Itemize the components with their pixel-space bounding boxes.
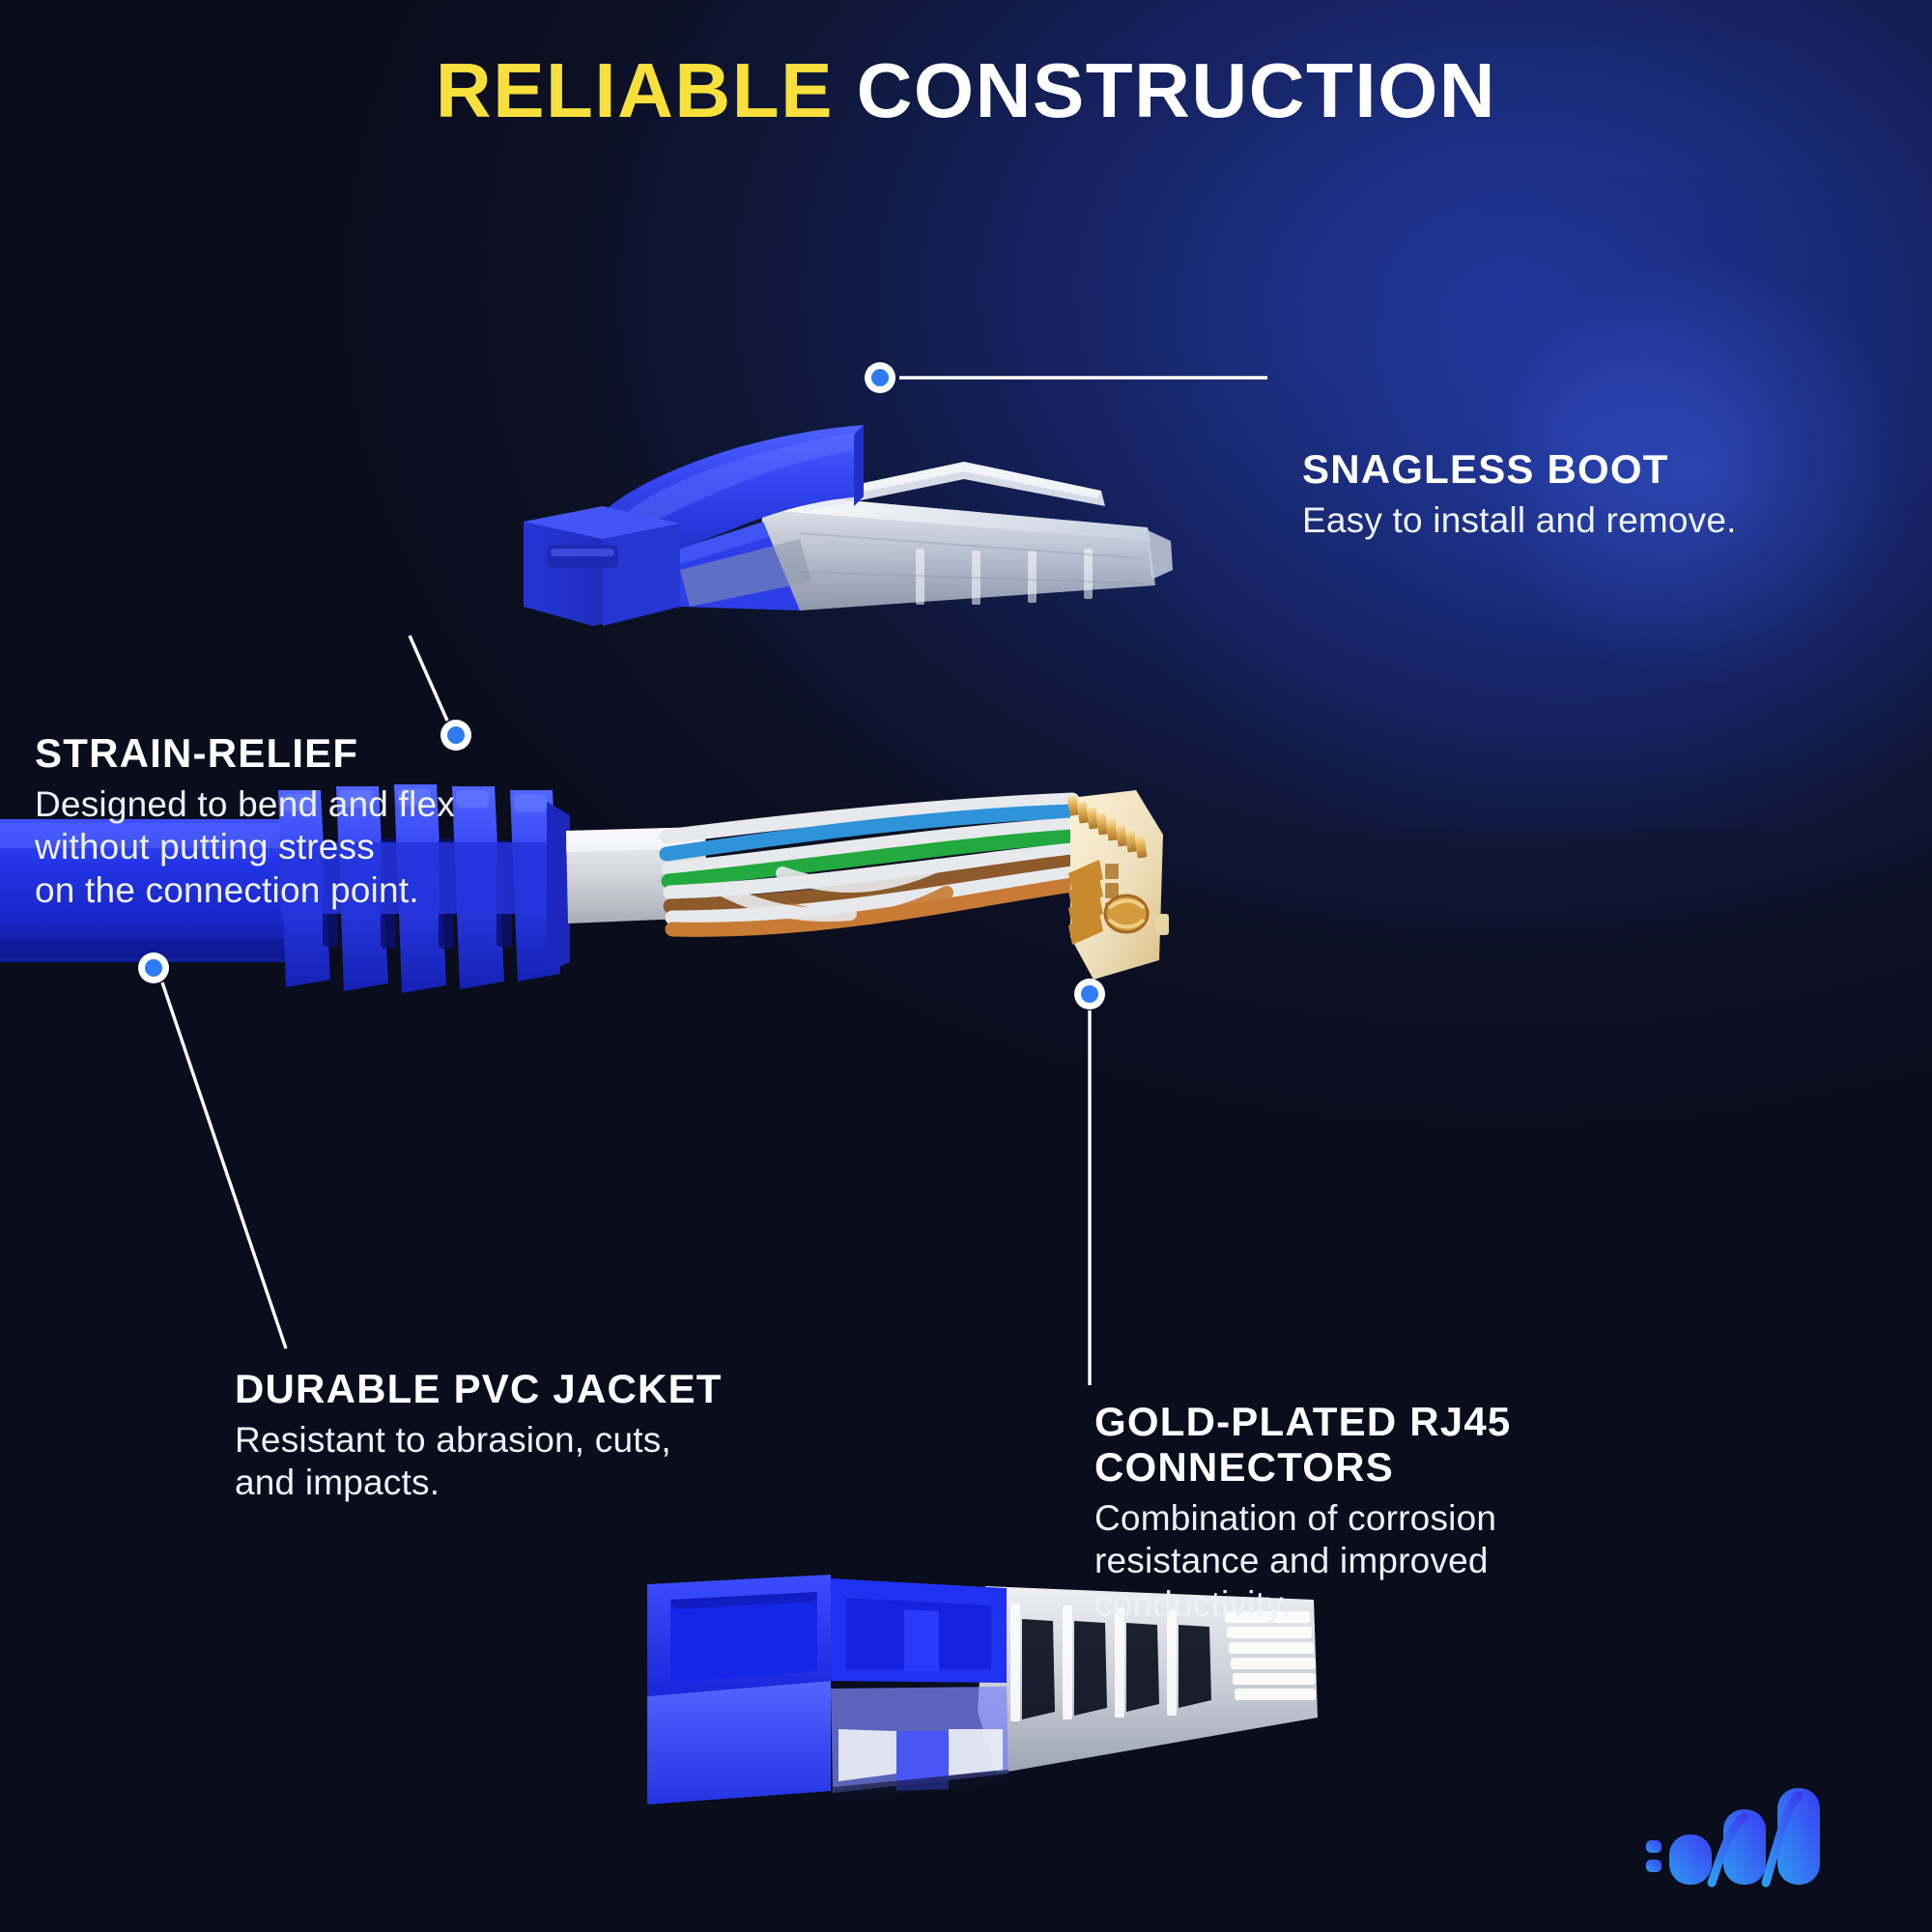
page-title: RELIABLE CONSTRUCTION [0, 52, 1932, 129]
callout-pvc-jacket: DURABLE PVC JACKET Resistant to abrasion… [235, 1366, 872, 1505]
callout-gold-connectors: GOLD-PLATED RJ45 CONNECTORS Combination … [1094, 1399, 1771, 1626]
callout-body-snagless-boot: Easy to install and remove. [1302, 499, 1901, 542]
callout-snagless-boot: SNAGLESS BOOT Easy to install and remove… [1302, 446, 1901, 542]
callout-title-gold-connectors: GOLD-PLATED RJ45 CONNECTORS [1094, 1399, 1771, 1490]
page-title-highlight: RELIABLE [436, 47, 834, 133]
callout-title-pvc-jacket: DURABLE PVC JACKET [235, 1366, 872, 1411]
logo-bar-1 [1669, 1834, 1712, 1885]
top-rj45-connector-image [510, 379, 1177, 630]
brand-logo [1642, 1782, 1884, 1903]
callout-title-snagless-boot: SNAGLESS BOOT [1302, 446, 1901, 492]
callout-body-strain-relief: Designed to bend and flex without puttin… [35, 783, 634, 912]
leader-line-strain-relief [410, 636, 447, 721]
callout-body-gold-connectors: Combination of corrosion resistance and … [1094, 1497, 1771, 1626]
logo-dash-bottom [1646, 1860, 1662, 1872]
callout-strain-relief: STRAIN-RELIEF Designed to bend and flex … [35, 730, 634, 912]
background-glow-primary [1043, 39, 1932, 831]
infographic-canvas: RELIABLE CONSTRUCTION [0, 0, 1932, 1932]
page-title-rest: CONSTRUCTION [857, 47, 1496, 133]
logo-dash-top [1646, 1840, 1662, 1853]
callout-title-strain-relief: STRAIN-RELIEF [35, 730, 634, 776]
callout-body-pvc-jacket: Resistant to abrasion, cuts, and impacts… [235, 1419, 872, 1505]
